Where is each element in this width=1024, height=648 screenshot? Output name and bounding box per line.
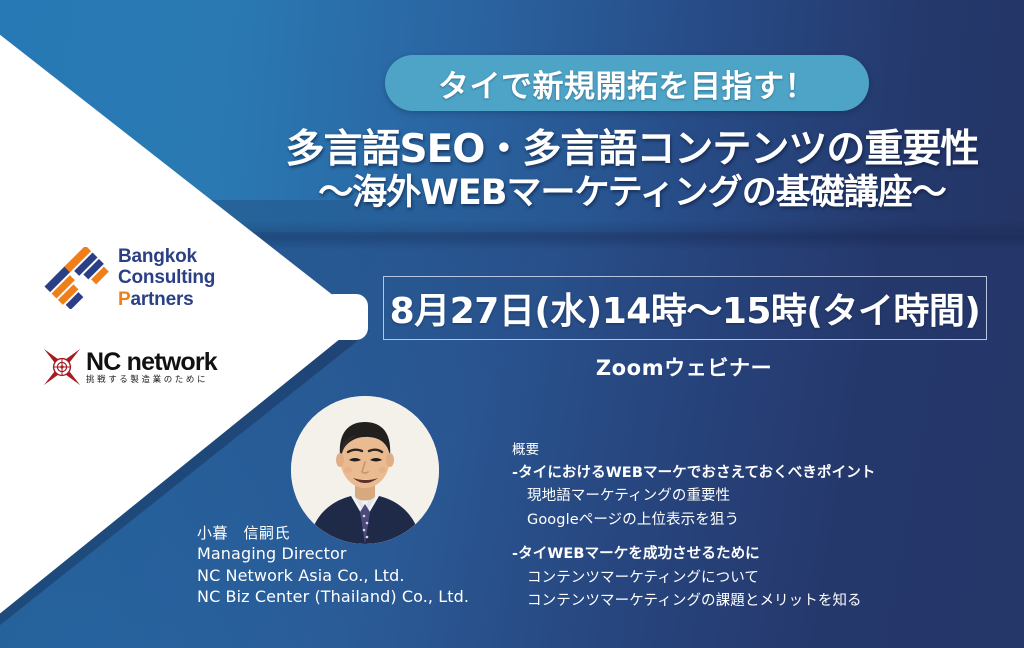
nc-network-tagline: 挑戦する製造業のために bbox=[86, 376, 217, 385]
speaker-info: 小暮 信嗣氏 Managing Director NC Network Asia… bbox=[197, 523, 469, 608]
nc-target-icon bbox=[44, 349, 80, 385]
webinar-poster: Bangkok Consulting Partners NC network bbox=[0, 0, 1024, 648]
outline-section-1-item-1: 現地語マーケティングの重要性 bbox=[512, 485, 982, 508]
outline-spacer bbox=[512, 532, 982, 543]
nc-network-logo: NC network 挑戦する製造業のために bbox=[44, 345, 234, 389]
bcp-wordmark: Bangkok Consulting Partners bbox=[118, 246, 226, 310]
outline-section-1-lead: -タイにおけるWEBマーケでおさえておくべきポイント bbox=[512, 462, 982, 485]
speaker-avatar bbox=[291, 396, 439, 544]
schedule-box: 8月27日(水)14時〜15時(タイ時間) bbox=[383, 276, 987, 340]
nc-network-text: NC network bbox=[86, 350, 217, 375]
white-chevron-tip bbox=[322, 294, 368, 340]
bcp-line-1: Bangkok bbox=[118, 246, 197, 267]
topic-badge-label: タイで新規開拓を目指す！ bbox=[438, 61, 816, 106]
headline-line-1: 多言語SEO・多言語コンテンツの重要性 bbox=[262, 128, 1002, 172]
bangkok-consulting-partners-logo: Bangkok Consulting Partners bbox=[44, 240, 226, 316]
bcp-line-3: Partners bbox=[118, 289, 194, 310]
speaker-name: 小暮 信嗣氏 bbox=[197, 523, 469, 543]
schedule-datetime: 8月27日(水)14時〜15時(タイ時間) bbox=[390, 282, 981, 334]
topic-badge: タイで新規開拓を目指す！ bbox=[385, 55, 869, 111]
outline-section-2-item-1: コンテンツマーケティングについて bbox=[512, 567, 982, 590]
nc-wordmark: NC network 挑戦する製造業のために bbox=[86, 350, 217, 385]
speaker-title: Managing Director bbox=[197, 543, 469, 565]
headline-line-2: 〜海外WEBマーケティングの基礎講座〜 bbox=[262, 174, 1002, 213]
speaker-company-2: NC Biz Center (Thailand) Co., Ltd. bbox=[197, 586, 469, 608]
outline-section-2-lead: -タイWEBマーケを成功させるために bbox=[512, 543, 982, 566]
handshake-icon bbox=[44, 247, 110, 309]
page-title: 多言語SEO・多言語コンテンツの重要性 〜海外WEBマーケティングの基礎講座〜 bbox=[262, 128, 1002, 213]
outline-heading: 概要 bbox=[512, 440, 982, 462]
outline-section-2-item-2: コンテンツマーケティングの課題とメリットを知る bbox=[512, 590, 982, 613]
speaker-company-1: NC Network Asia Co., Ltd. bbox=[197, 565, 469, 587]
schedule-platform: Zoomウェビナー bbox=[383, 352, 985, 382]
outline-section-1-item-2: Googleページの上位表示を狙う bbox=[512, 509, 982, 532]
bcp-line-2: Consulting bbox=[118, 267, 215, 288]
agenda-outline: 概要 -タイにおけるWEBマーケでおさえておくべきポイント 現地語マーケティング… bbox=[512, 440, 982, 614]
